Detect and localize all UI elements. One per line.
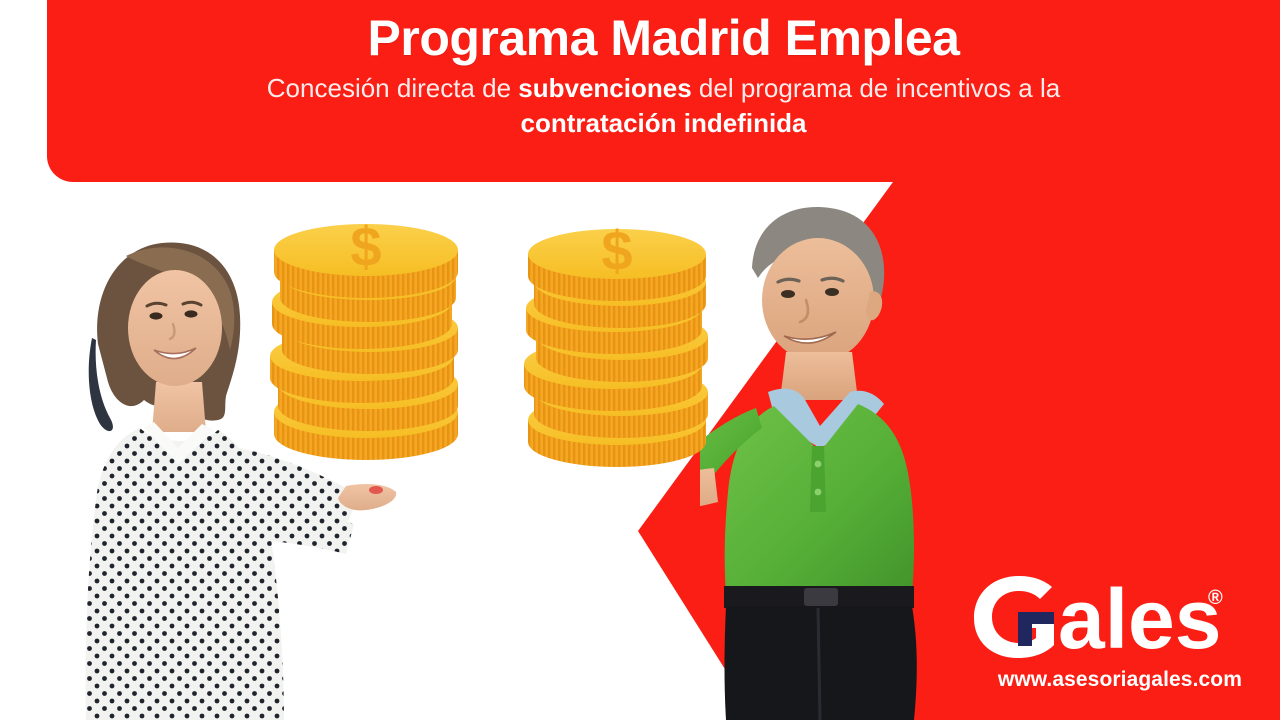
man-eye-right	[825, 288, 839, 296]
woman-fingernail	[369, 486, 383, 494]
man-belt-buckle	[804, 588, 838, 606]
coin-stack-left: $	[262, 206, 470, 468]
subtitle-bold-keyword: subvenciones	[518, 73, 691, 103]
photo-man-presenting	[700, 196, 960, 720]
brand-logo-block[interactable]: ales ® www.asesoriagales.com	[942, 574, 1242, 692]
website-url[interactable]: www.asesoriagales.com	[942, 668, 1242, 692]
coin-1-top: $	[274, 215, 458, 298]
coin-dollar-symbol: $	[350, 215, 381, 278]
promotional-banner-slide: $ $	[0, 0, 1280, 720]
man-polo-button-top	[815, 461, 822, 468]
subtitle-prefix: Concesión directa de	[267, 73, 518, 103]
man-forearm	[700, 468, 718, 522]
woman-neck	[152, 382, 206, 432]
header-banner: Programa Madrid Emplea Concesión directa…	[47, 0, 1280, 182]
coin-stack-right: $	[518, 208, 718, 476]
woman-eye-right	[185, 310, 198, 317]
man-polo-button-bottom	[815, 489, 822, 496]
man-trousers-seam	[818, 608, 820, 720]
woman-hand	[338, 484, 396, 510]
woman-eye-left	[150, 312, 163, 319]
coin-dollar-symbol: $	[601, 219, 632, 282]
coin-1-top: $	[528, 219, 706, 301]
logo-wordmark: ales	[1058, 574, 1222, 660]
man-polo-placket	[810, 446, 826, 512]
page-subtitle: Concesión directa de subvenciones del pr…	[87, 71, 1240, 141]
subtitle-suffix: del programa de incentivos a la	[692, 73, 1061, 103]
subtitle-line-two: contratación indefinida	[87, 106, 1240, 141]
man-eye-left	[781, 290, 795, 298]
man-face	[762, 238, 874, 362]
gales-logo[interactable]: ales ®	[972, 574, 1242, 660]
page-title: Programa Madrid Emplea	[87, 12, 1240, 65]
logo-registered-mark: ®	[1208, 587, 1223, 609]
